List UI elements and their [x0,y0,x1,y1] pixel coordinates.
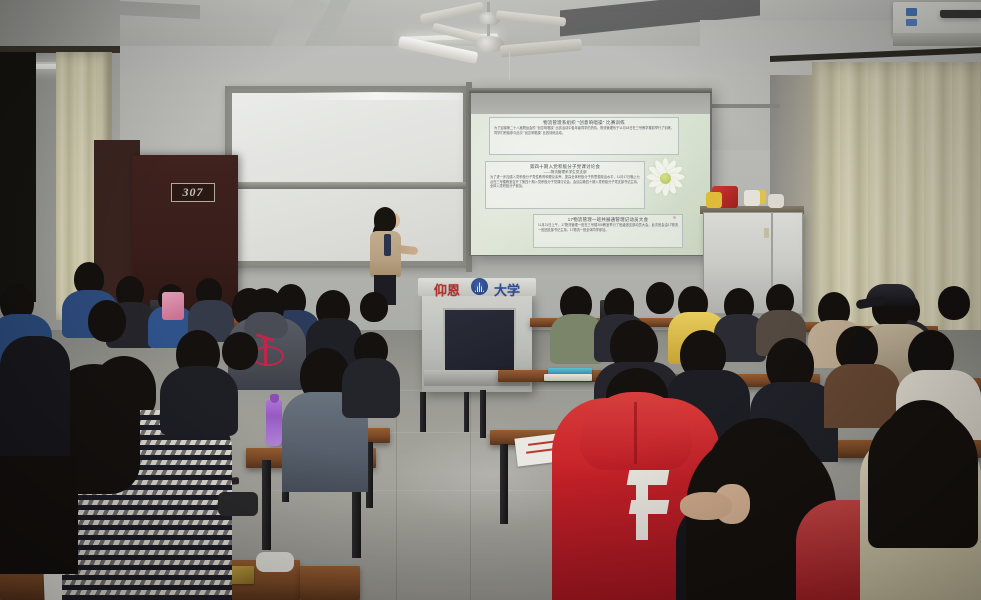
red-hoodie-seam [634,402,637,464]
ac-panel-right [940,10,981,18]
bag-on-floor [218,492,258,516]
cabinet-item-white-bag [768,194,784,208]
student-body [342,358,400,418]
book-white [544,374,592,381]
slide-block-2-body: 为了进一步加强入党积极分子党性教育和理论素养，提高全体积极分子的思想政治水平，1… [490,175,640,189]
ac-sticker [906,8,917,16]
slide-text-block-1: 物流管理系组织 "创意响唱操" 比赛训练 为了迎接第二十八届院运会的 "创意响唱… [489,117,679,155]
presenter-hair [374,207,396,232]
hoodie-hood [244,312,288,338]
university-name-right: 大学 [494,280,520,299]
whiteboard-tray-rail [228,182,468,189]
whiteboard-surface [232,93,463,261]
slide-block-3-body: 11月21日上午，17物流管理一班在三号楼305教室举行了班级团支部动员大会。此… [538,223,678,232]
projection-screen-blank-band [471,93,710,116]
hoodie-logo-stem [264,338,267,366]
air-conditioner-vent [893,33,981,46]
purple-bottle-cap[interactable] [270,394,279,403]
presenter-inner-shirt [384,234,391,256]
desk-leg [480,390,486,438]
left-dark-board [0,52,36,302]
desk-leg [262,460,271,550]
room-number-label: 307 [183,185,204,200]
projected-slide: 物流管理系组织 "创意响唱操" 比赛训练 为了迎接第二十八届院运会的 "创意响唱… [471,114,710,255]
wall-rail-right [700,104,780,108]
shoe [256,552,294,572]
red-hoodie-letter-1 [627,470,670,485]
desk-leg [420,392,426,432]
slide-text-block-3: 17物流管理一班共展通管理记动员大会 11月21日上午，17物流管理一班在三号楼… [533,214,683,248]
room-number-sign: 307 [171,183,215,202]
far-right-student-hair [868,408,978,548]
university-name-left: 仰恩 [434,280,460,299]
student-head [222,332,258,370]
desk-leg [500,444,508,524]
fan-pull-chain[interactable] [509,52,510,80]
whiteboard-glare [292,92,462,100]
university-crest-icon [471,278,488,295]
pink-bag [162,292,184,320]
student-head [646,282,674,314]
daisy-center [660,173,671,184]
student-body [160,366,238,436]
red-hoodie-letter-stem [636,470,648,540]
student-head [938,286,970,320]
cabinet-item-yellow [706,192,722,208]
desk-row-front [300,566,360,600]
classroom-photo: 307 物流管理系组织 "创意响唱操" 比赛训练 为了迎接第二十八届院运会的 "… [0,0,981,600]
purple-water-bottle[interactable] [266,400,282,446]
student-dark-figure [0,336,70,456]
slide-text-block-2: 第四十期入党积极分子党课讨论会 ——物流管理系学生党支部 为了进一步加强入党积极… [485,161,645,209]
ac-sticker-2 [906,19,917,26]
classroom-door[interactable] [132,155,238,325]
slide-block-1-body: 为了迎接第二十八届院运会的 "创意响唱操" 比赛活动中各年级同学的热情，物流管理… [494,126,674,135]
cabinet-item-white-box [744,190,760,206]
cabinet-handle[interactable] [764,228,769,238]
student-head [88,300,126,342]
whiteboard [225,86,470,268]
podium-control-screen[interactable] [443,308,516,374]
desk-leg [464,392,469,432]
daisy-flower-icon [643,156,687,200]
red-hoodie-letter-2 [629,500,669,514]
student-arm [680,492,732,520]
student-head [360,292,388,322]
